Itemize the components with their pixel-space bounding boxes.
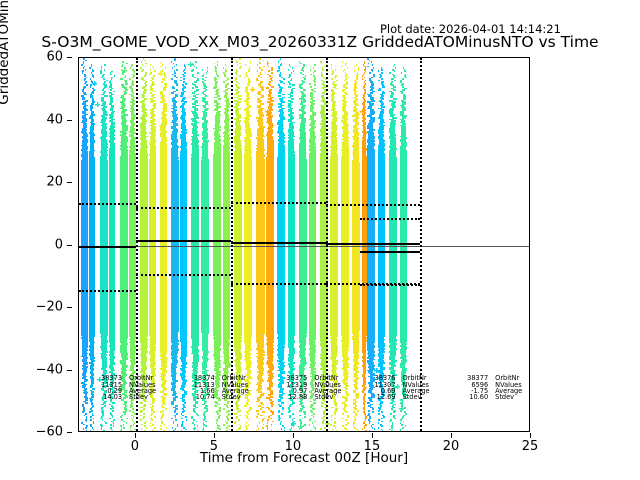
data-point	[141, 428, 142, 430]
data-point	[292, 84, 294, 86]
data-point	[146, 421, 148, 423]
data-point	[144, 60, 145, 62]
data-point	[124, 77, 126, 79]
data-point	[278, 419, 280, 421]
data-point	[110, 74, 111, 76]
data-point	[93, 429, 94, 431]
data-point	[163, 89, 166, 91]
data-point	[281, 428, 282, 430]
data-point	[226, 427, 227, 429]
x-axis-ticks: 0510152025	[78, 433, 530, 457]
data-point	[162, 64, 163, 66]
y-tick-label: 0	[55, 237, 63, 252]
data-point	[90, 416, 91, 418]
data-point	[155, 421, 156, 423]
data-point	[104, 64, 105, 66]
data-point	[182, 415, 184, 417]
data-point	[195, 86, 198, 88]
data-point	[171, 92, 174, 94]
data-point	[205, 421, 206, 423]
data-point	[282, 408, 284, 410]
data-point	[263, 66, 264, 68]
data-point	[228, 425, 229, 427]
data-point	[83, 424, 84, 426]
data-point	[172, 427, 173, 429]
data-point	[256, 416, 258, 418]
data-point	[91, 410, 93, 412]
data-point	[112, 410, 114, 412]
data-point	[217, 75, 219, 77]
data-point	[165, 408, 167, 410]
data-point	[82, 411, 84, 413]
data-point	[229, 429, 230, 431]
data-point	[176, 413, 178, 415]
data-point	[152, 78, 154, 80]
x-tick-label: 20	[443, 439, 460, 454]
data-point	[161, 422, 162, 424]
data-point	[239, 63, 240, 65]
data-point	[141, 61, 142, 63]
data-point	[81, 64, 82, 66]
data-point	[91, 92, 93, 94]
data-point	[104, 405, 106, 407]
data-point	[90, 419, 91, 421]
data-point	[83, 428, 84, 430]
data-point	[227, 419, 229, 421]
data-point	[84, 94, 87, 96]
data-point	[132, 92, 135, 94]
data-point	[288, 77, 290, 79]
data-point	[223, 81, 225, 83]
data-point	[173, 63, 174, 65]
data-point	[142, 64, 143, 66]
data-point	[176, 84, 179, 86]
data-point	[142, 418, 144, 420]
data-point	[105, 422, 106, 424]
data-point	[113, 425, 114, 427]
data-point	[239, 415, 241, 417]
data-point	[91, 66, 92, 68]
data-point	[140, 419, 142, 421]
data-point	[236, 74, 238, 76]
data-point	[153, 91, 156, 93]
data-point	[123, 424, 124, 426]
data-point	[196, 421, 198, 423]
data-point	[144, 422, 145, 424]
data-point	[132, 77, 134, 79]
data-point	[245, 64, 246, 66]
data-point	[280, 64, 281, 66]
data-point	[185, 416, 187, 418]
data-point	[237, 64, 238, 66]
data-point	[292, 67, 293, 69]
data-point	[263, 424, 265, 426]
y-tick-mark	[67, 57, 72, 58]
data-point	[166, 427, 167, 429]
data-point	[248, 424, 249, 426]
data-point	[257, 425, 258, 427]
data-point	[202, 404, 204, 406]
data-point	[258, 428, 259, 430]
y-tick-label: −60	[36, 425, 63, 440]
data-point	[238, 83, 240, 85]
data-point	[267, 422, 268, 424]
data-point	[146, 427, 147, 429]
data-point	[165, 77, 167, 79]
data-point	[271, 86, 274, 88]
y-tick-mark	[67, 432, 72, 433]
data-point	[271, 69, 272, 71]
data-point	[113, 91, 115, 93]
data-point	[225, 70, 226, 72]
data-point	[227, 407, 229, 409]
data-point	[267, 428, 268, 430]
data-point	[291, 72, 293, 74]
data-point	[197, 425, 198, 427]
data-point	[271, 80, 273, 82]
data-point	[165, 67, 166, 69]
data-point	[191, 70, 193, 72]
y-tick-label: −40	[36, 362, 63, 377]
data-point	[133, 416, 135, 418]
data-point	[172, 87, 175, 89]
data-point	[85, 402, 87, 404]
data-point	[176, 77, 178, 79]
data-point	[196, 67, 197, 69]
data-point	[247, 413, 249, 415]
data-point	[141, 424, 142, 426]
data-point	[227, 402, 230, 404]
data-point	[194, 91, 197, 93]
data-point	[180, 77, 182, 79]
data-point	[132, 84, 134, 86]
data-point	[197, 72, 199, 74]
data-point	[160, 66, 161, 68]
x-tick-label: 25	[522, 439, 539, 454]
data-point	[143, 405, 146, 407]
data-point	[172, 67, 173, 69]
data-point	[183, 75, 185, 77]
data-point	[154, 70, 155, 72]
data-point	[272, 421, 274, 423]
data-point	[184, 69, 185, 71]
data-point	[112, 402, 114, 404]
y-tick-mark	[67, 182, 72, 183]
data-point	[171, 404, 174, 406]
data-point	[259, 58, 260, 60]
data-point	[249, 419, 251, 421]
data-point	[85, 69, 86, 71]
data-point	[104, 69, 105, 71]
data-point	[120, 425, 121, 427]
data-point	[256, 80, 258, 82]
data-point	[150, 422, 151, 424]
data-point	[145, 66, 146, 68]
data-point	[143, 408, 145, 410]
y-tick-label: 40	[46, 112, 63, 127]
data-point	[250, 63, 251, 65]
data-point	[244, 77, 246, 79]
data-point	[86, 421, 87, 423]
data-point	[281, 402, 284, 404]
data-point	[110, 89, 112, 91]
data-point	[278, 411, 280, 413]
data-point	[206, 72, 208, 74]
data-point	[93, 418, 94, 420]
data-point	[85, 427, 86, 429]
data-point	[174, 66, 175, 68]
data-point	[193, 428, 194, 430]
data-point	[175, 419, 177, 421]
data-point	[278, 92, 281, 94]
chart-title: S-O3M_GOME_VOD_XX_M03_20260331Z GriddedA…	[0, 33, 640, 51]
data-point	[103, 78, 105, 80]
data-point	[194, 77, 196, 79]
data-point	[110, 424, 111, 426]
data-point	[150, 415, 152, 417]
data-point	[194, 81, 196, 83]
data-point	[151, 419, 152, 421]
data-point	[194, 424, 195, 426]
data-point	[248, 70, 250, 72]
data-point	[202, 69, 203, 71]
data-point	[120, 430, 121, 432]
data-point	[174, 60, 175, 62]
data-point	[239, 67, 240, 69]
data-point	[101, 429, 102, 431]
data-point	[260, 74, 262, 76]
data-point	[154, 427, 155, 429]
data-point	[143, 413, 145, 415]
chart-page: Plot date: 2026-04-01 14:14:21 S-O3M_GOM…	[0, 0, 640, 480]
data-point	[217, 61, 218, 63]
data-point	[288, 86, 290, 88]
data-point	[259, 63, 260, 65]
data-point	[93, 77, 94, 79]
data-point	[272, 413, 274, 415]
data-point	[101, 94, 104, 96]
data-point	[268, 70, 270, 72]
data-point	[120, 416, 122, 418]
data-point	[271, 405, 274, 407]
data-point	[124, 413, 126, 415]
data-point	[123, 427, 124, 429]
data-point	[112, 407, 114, 409]
x-tick-mark	[214, 433, 215, 438]
data-point	[120, 78, 122, 80]
data-point	[83, 63, 84, 65]
data-point	[130, 427, 131, 429]
data-point	[164, 394, 167, 396]
data-point	[100, 72, 102, 74]
data-point	[261, 404, 264, 406]
data-point	[150, 425, 151, 427]
data-point	[125, 83, 127, 85]
data-point	[153, 75, 155, 77]
data-point	[150, 69, 151, 71]
data-point	[90, 86, 92, 88]
data-point	[227, 83, 229, 85]
data-point	[262, 427, 263, 429]
data-point	[93, 422, 94, 424]
data-point	[163, 80, 165, 82]
data-point	[244, 405, 247, 407]
x-tick-label: 5	[210, 439, 218, 454]
data-point	[239, 410, 241, 412]
data-point	[262, 411, 264, 413]
data-point	[133, 424, 134, 426]
data-point	[177, 425, 178, 427]
data-point	[109, 418, 110, 420]
data-point	[185, 429, 186, 431]
y-tick-label: −20	[36, 300, 63, 315]
data-point	[92, 70, 93, 72]
y-tick-mark	[67, 245, 72, 246]
data-point	[163, 404, 166, 406]
plot-area: 38373OrbitNr11315NValues-0.29Average14.0…	[78, 57, 530, 432]
data-point	[192, 92, 195, 94]
data-point	[126, 63, 127, 65]
data-point	[185, 83, 187, 85]
data-point	[145, 63, 146, 65]
data-point	[126, 422, 127, 424]
data-point	[218, 410, 220, 412]
data-point	[260, 408, 263, 410]
data-point	[205, 425, 206, 427]
data-point	[239, 58, 240, 60]
data-point	[256, 410, 259, 412]
x-tick-mark	[293, 433, 294, 438]
data-point	[207, 67, 208, 69]
y-tick-label: 20	[46, 175, 63, 190]
data-point	[261, 89, 264, 91]
data-point	[235, 418, 237, 420]
data-point	[161, 81, 163, 83]
data-point	[268, 416, 270, 418]
data-point	[271, 424, 272, 426]
data-point	[152, 424, 153, 426]
data-point	[173, 422, 174, 424]
y-tick-mark	[67, 370, 72, 371]
data-point	[152, 430, 153, 432]
data-point	[86, 430, 87, 432]
data-point	[259, 422, 261, 424]
data-point	[101, 67, 102, 69]
data-point	[186, 419, 188, 421]
data-point	[217, 64, 218, 66]
data-point	[204, 80, 206, 82]
data-point	[225, 64, 226, 66]
data-point	[214, 405, 217, 407]
data-point	[164, 424, 165, 426]
data-point	[260, 77, 262, 79]
data-point	[278, 61, 279, 63]
data-point	[235, 421, 237, 423]
data-point	[140, 411, 142, 413]
data-point	[270, 396, 273, 398]
data-point	[218, 98, 222, 100]
data-point	[263, 60, 264, 62]
data-point	[144, 75, 146, 77]
data-point	[219, 428, 220, 430]
data-point	[181, 418, 183, 420]
data-point	[160, 428, 161, 430]
data-point	[197, 415, 199, 417]
data-point	[260, 97, 264, 99]
data-point	[141, 70, 143, 72]
data-point	[290, 80, 292, 82]
data-point	[260, 415, 262, 417]
data-point	[267, 419, 269, 421]
data-point	[289, 83, 291, 85]
data-point	[217, 404, 220, 406]
x-tick-mark	[135, 433, 136, 438]
data-point	[195, 407, 198, 409]
data-point	[281, 413, 283, 415]
data-point	[282, 94, 285, 96]
data-point	[114, 75, 116, 77]
data-point	[284, 427, 285, 429]
data-point	[271, 72, 273, 74]
x-tick-mark	[530, 433, 531, 438]
y-axis-ticks: −60−40−200204060	[0, 57, 72, 432]
data-point	[261, 69, 263, 71]
data-point	[113, 422, 114, 424]
data-point	[239, 75, 241, 77]
data-point	[236, 61, 237, 63]
data-point	[256, 430, 257, 432]
data-point	[82, 72, 83, 74]
data-point	[104, 95, 107, 97]
data-point	[218, 418, 220, 420]
data-point	[238, 95, 241, 97]
data-point	[174, 72, 176, 74]
data-point	[171, 78, 173, 80]
data-point	[184, 72, 186, 74]
data-point	[182, 411, 184, 413]
data-point	[283, 78, 285, 80]
data-point	[196, 94, 199, 96]
data-point	[206, 410, 208, 412]
y-tick-label: 60	[46, 50, 63, 65]
x-tick-mark	[372, 433, 373, 438]
data-point	[89, 411, 91, 413]
data-point	[238, 419, 240, 421]
data-point	[238, 98, 242, 100]
data-point	[283, 83, 285, 85]
data-point	[183, 78, 185, 80]
data-point	[92, 415, 93, 417]
x-tick-label: 0	[131, 439, 139, 454]
data-point	[123, 421, 125, 423]
data-point	[126, 418, 128, 420]
data-point	[214, 63, 215, 65]
data-point	[113, 419, 114, 421]
data-point	[154, 416, 156, 418]
data-point	[171, 418, 173, 420]
data-point	[202, 75, 204, 77]
data-point	[153, 67, 154, 69]
data-point	[175, 416, 177, 418]
data-point	[140, 402, 143, 404]
data-point	[176, 69, 177, 71]
data-point	[195, 61, 196, 63]
data-point	[268, 66, 269, 68]
data-point	[261, 421, 263, 423]
data-point	[238, 428, 239, 430]
x-tick-label: 15	[364, 439, 381, 454]
data-point	[227, 78, 229, 80]
